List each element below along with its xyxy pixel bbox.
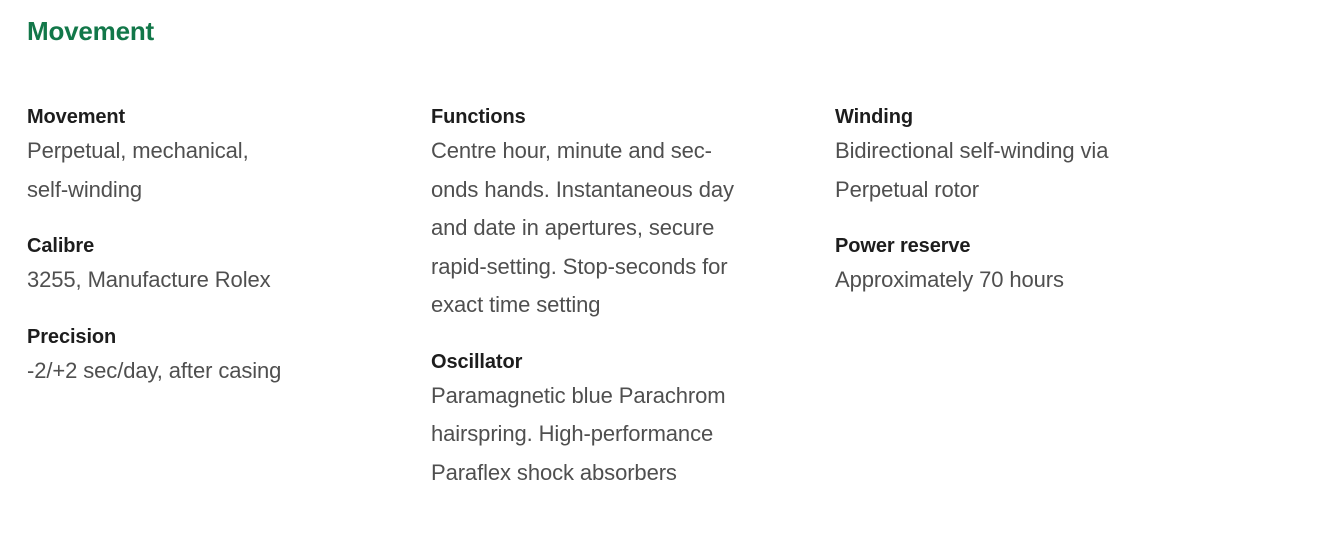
spec-label-oscillator: Oscillator [431,347,835,377]
spec-label-movement: Movement [27,102,431,132]
spec-value-functions: Centre hour, minute and sec- onds hands.… [431,132,791,325]
spec-label-calibre: Calibre [27,231,431,261]
spec-group-winding: Winding Bidirectional self-winding via P… [835,102,1255,209]
spec-group-oscillator: Oscillator Paramagnetic blue Parachrom h… [431,347,835,493]
spec-column-2: Functions Centre hour, minute and sec- o… [431,102,835,492]
spec-group-movement: Movement Perpetual, mechanical, self-win… [27,102,431,209]
spec-label-functions: Functions [431,102,835,132]
spec-group-functions: Functions Centre hour, minute and sec- o… [431,102,835,325]
spec-label-precision: Precision [27,322,431,352]
spec-label-winding: Winding [835,102,1255,132]
spec-column-3: Winding Bidirectional self-winding via P… [835,102,1255,300]
movement-specification-section: Movement Movement Perpetual, mechanical,… [0,0,1336,541]
spec-value-oscillator: Paramagnetic blue Parachrom hairspring. … [431,377,791,493]
spec-value-calibre: 3255, Manufacture Rolex [27,261,431,300]
spec-value-power-reserve: Approximately 70 hours [835,261,1195,300]
spec-value-precision: -2/+2 sec/day, after casing [27,352,431,391]
spec-group-power-reserve: Power reserve Approximately 70 hours [835,231,1255,300]
specification-columns: Movement Perpetual, mechanical, self-win… [27,102,1309,492]
spec-group-calibre: Calibre 3255, Manufacture Rolex [27,231,431,300]
spec-label-power-reserve: Power reserve [835,231,1255,261]
spec-value-winding: Bidirectional self-winding via Perpetual… [835,132,1195,209]
page-title: Movement [27,0,1309,48]
spec-group-precision: Precision -2/+2 sec/day, after casing [27,322,431,391]
spec-column-1: Movement Perpetual, mechanical, self-win… [27,102,431,390]
spec-value-movement: Perpetual, mechanical, self-winding [27,132,431,209]
